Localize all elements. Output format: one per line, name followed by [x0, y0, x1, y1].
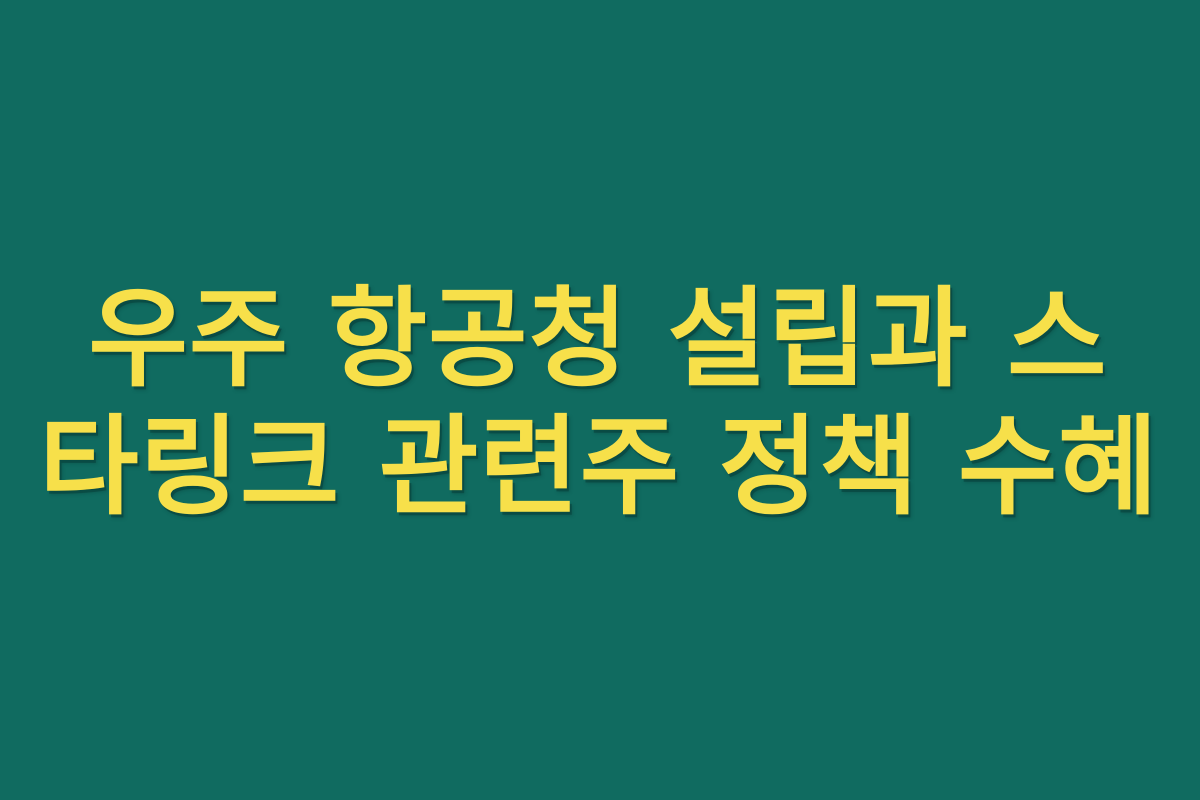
headline-line-1: 우주 항공청 설립과 스: [0, 276, 1200, 404]
title-card: 우주 항공청 설립과 스 타링크 관련주 정책 수혜: [0, 0, 1200, 800]
headline-line-2: 타링크 관련주 정책 수혜: [0, 404, 1200, 532]
headline-block: 우주 항공청 설립과 스 타링크 관련주 정책 수혜: [0, 276, 1200, 532]
